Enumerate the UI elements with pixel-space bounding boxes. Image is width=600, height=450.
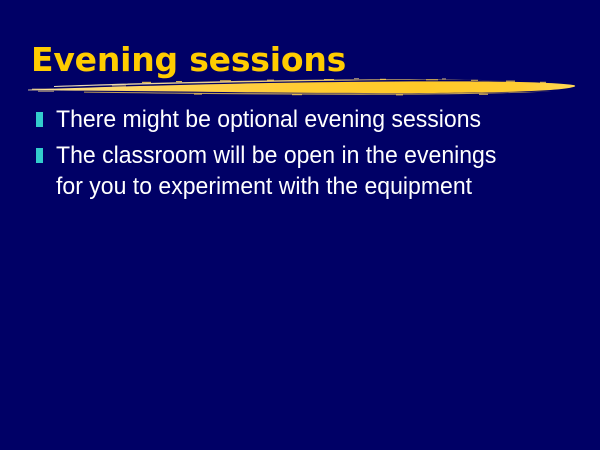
list-item: The classroom will be open in the evenin…	[0, 140, 600, 202]
title-brush-underline-decoration	[24, 72, 580, 98]
slide-bullet-list: There might be optional evening sessions…	[0, 104, 600, 202]
brush-stroke-icon	[24, 72, 580, 98]
bullet-marker-icon	[36, 148, 43, 163]
slide-title-block: Evening sessions	[0, 0, 600, 100]
presentation-slide: Evening sessions	[0, 0, 600, 450]
bullet-text: The classroom will be open in the evenin…	[56, 140, 518, 202]
bullet-marker-icon	[36, 112, 43, 127]
list-item: There might be optional evening sessions	[0, 104, 600, 135]
bullet-text: There might be optional evening sessions	[56, 104, 567, 135]
